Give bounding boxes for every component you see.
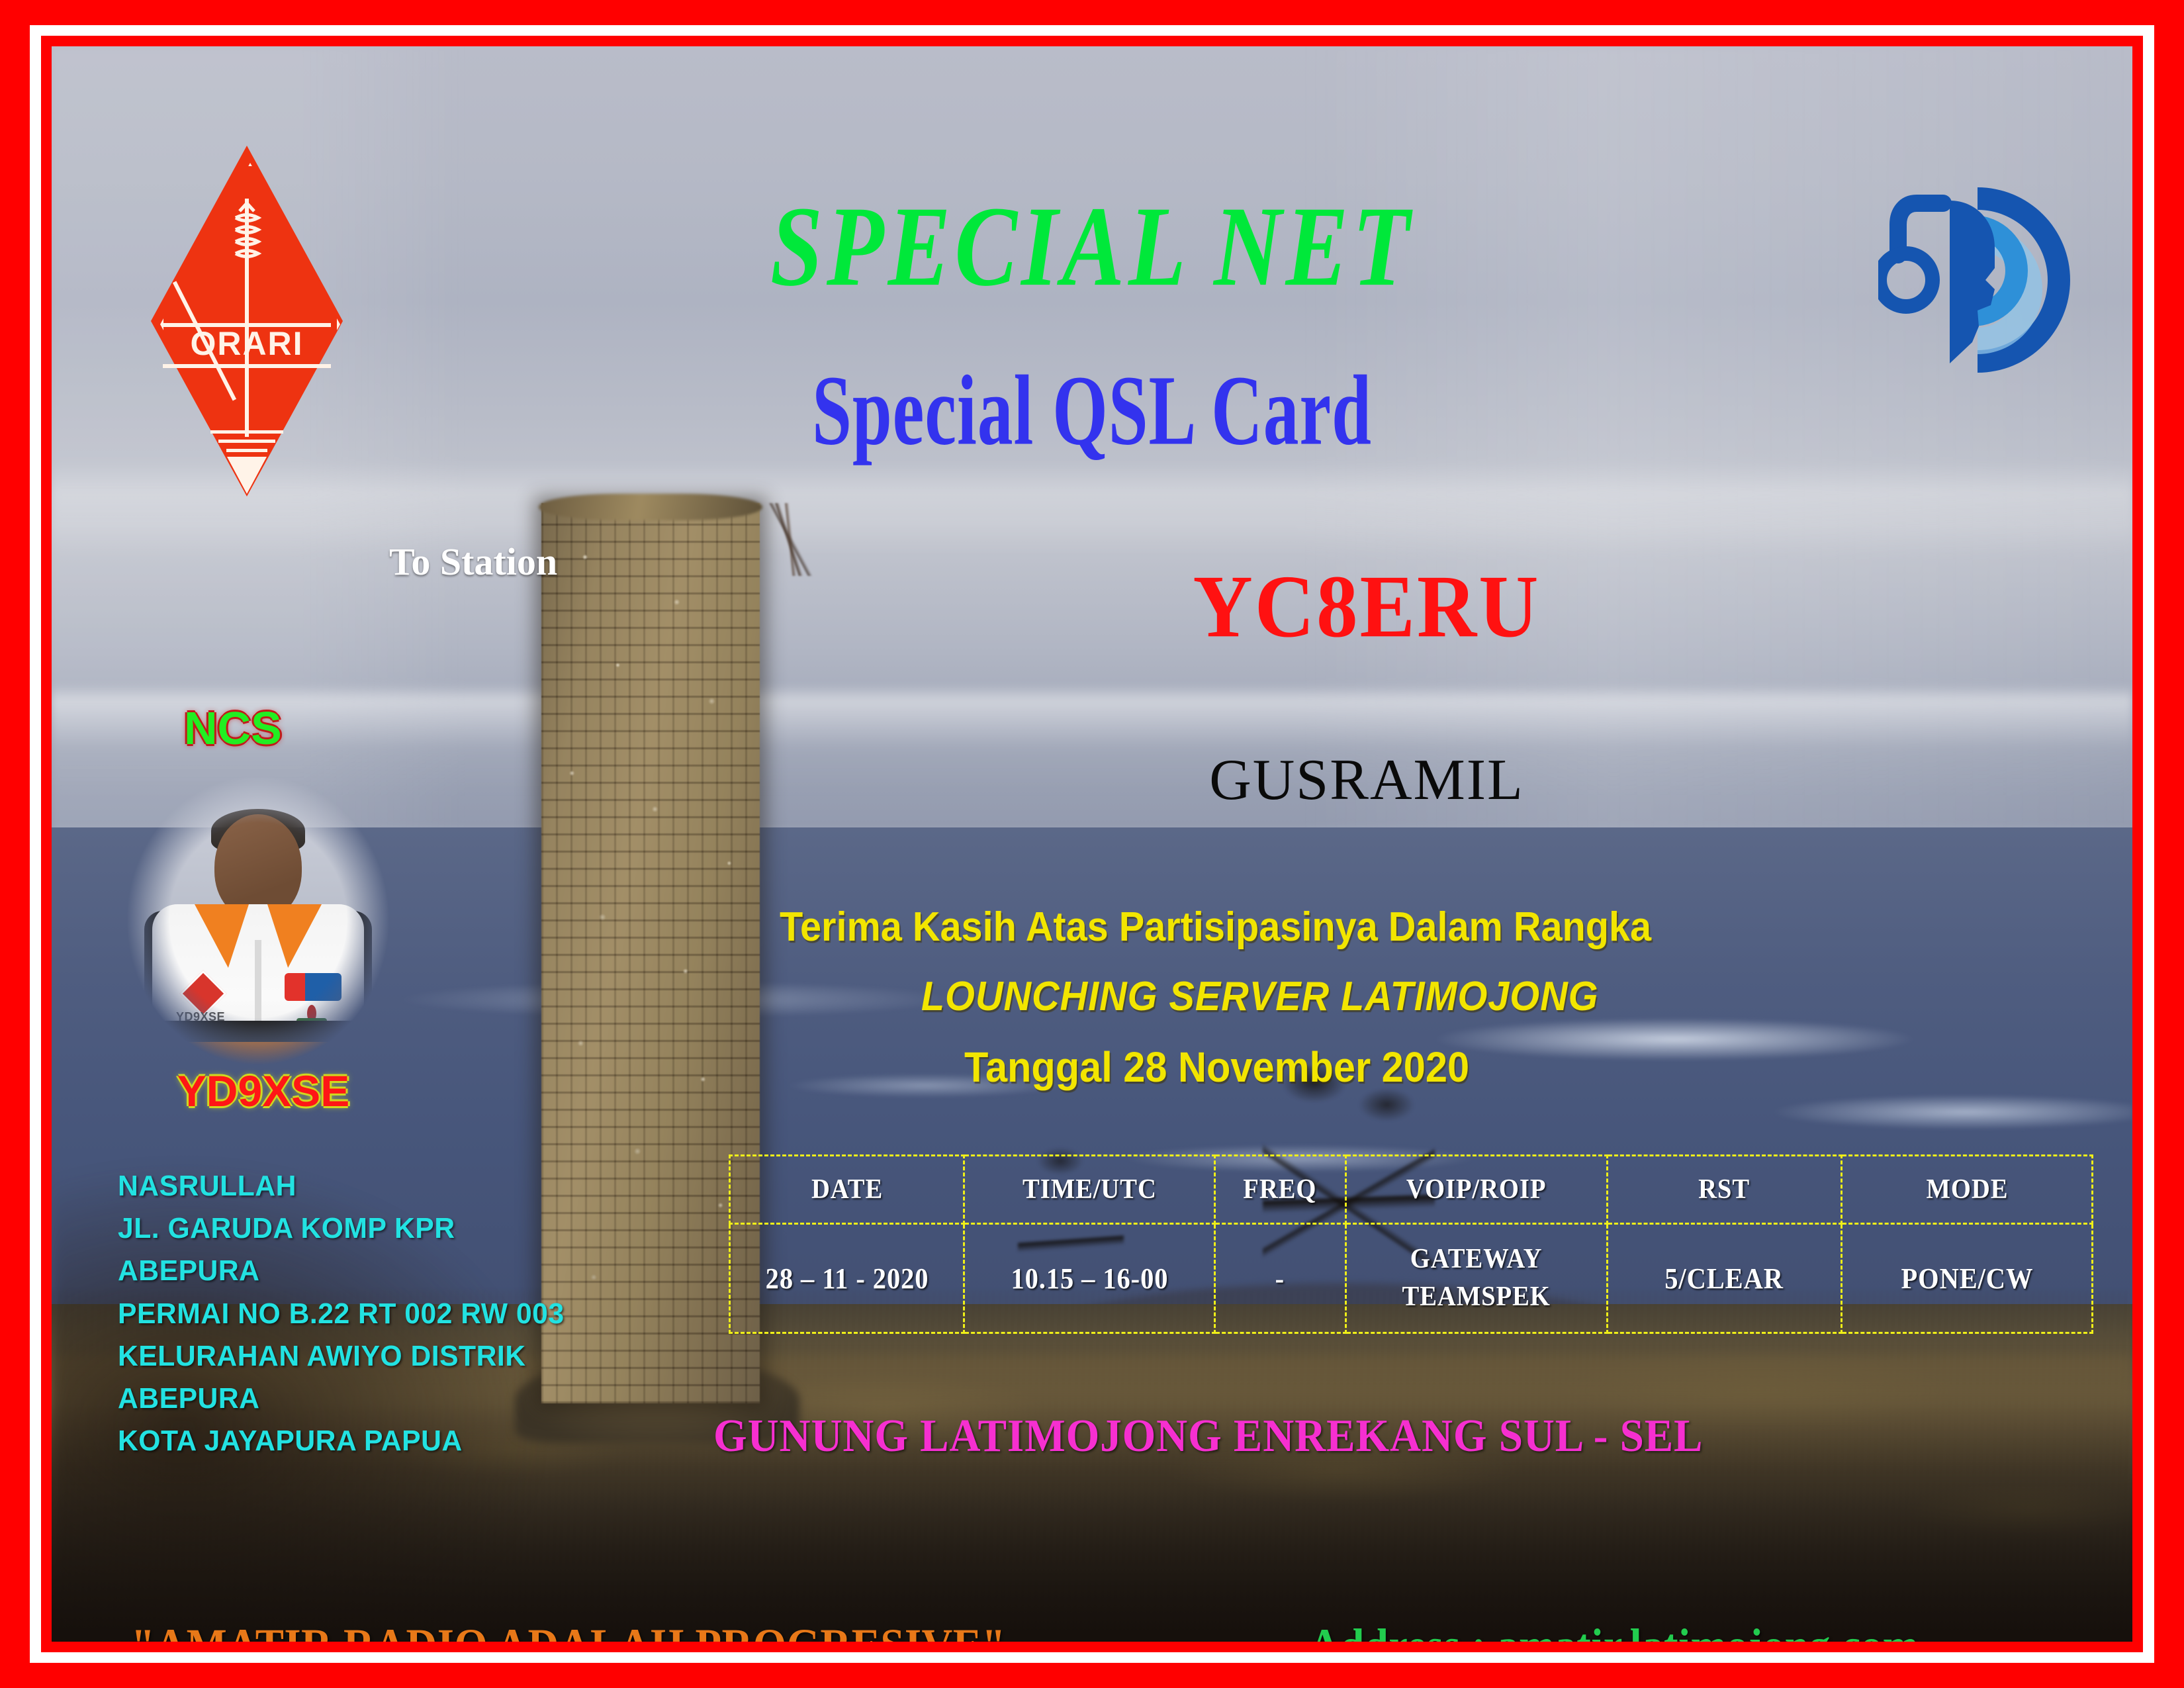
address-line: JL. GARUDA KOMP KPR: [118, 1207, 664, 1250]
address-line: ABEPURA: [118, 1250, 664, 1292]
table-header-row: DATE TIME/UTC FREQ VOIP/ROIP RST MODE: [730, 1156, 2093, 1224]
ncs-callsign: YD9XSE: [131, 1066, 396, 1116]
cell-date: 28 – 11 - 2020: [739, 1224, 955, 1333]
to-station-label: To Station: [389, 539, 557, 584]
cell-time-utc: 10.15 – 16-00: [974, 1224, 1205, 1333]
col-header-date: DATE: [739, 1156, 955, 1224]
ncs-operator-photo: YD9XSE: [126, 774, 390, 1066]
address-line: ABEPURA: [118, 1378, 664, 1420]
cell-freq: -: [1220, 1224, 1340, 1333]
photo-org-shirt-patch: [285, 973, 341, 1001]
address-line: KELURAHAN AWIYO DISTRIK: [118, 1335, 664, 1378]
address-line: KOTA JAYAPURA PAPUA: [118, 1420, 664, 1462]
card-photo-stage: ORARI SPECIAL NET Special QSL Card To St…: [52, 46, 2132, 1642]
col-header-voip-roip: VOIP/ROIP: [1356, 1156, 1597, 1224]
cell-voip-roip: GATEWAY TEAMSPEK: [1356, 1224, 1597, 1333]
cell-mode: PONE/CW: [1852, 1224, 2083, 1333]
cell-voip-line-2: TEAMSPEK: [1357, 1278, 1595, 1316]
event-date-line: Tanggal 28 November 2020: [780, 1043, 1964, 1092]
table-row: 28 – 11 - 2020 10.15 – 16-00 - GATEWAY T…: [730, 1224, 2093, 1333]
qsl-address-block: NASRULLAH JL. GARUDA KOMP KPR ABEPURA PE…: [118, 1165, 664, 1463]
page-title: SPECIAL NET: [52, 189, 2132, 303]
cell-voip-line-1: GATEWAY: [1357, 1241, 1595, 1278]
qso-table: DATE TIME/UTC FREQ VOIP/ROIP RST MODE 28…: [729, 1154, 2093, 1334]
station-callsign: YC8ERU: [905, 563, 1828, 652]
event-thanks-line: Terima Kasih Atas Partisipasinya Dalam R…: [780, 904, 1964, 951]
photo-waist-sash: [152, 1021, 364, 1043]
col-header-time-utc: TIME/UTC: [974, 1156, 1205, 1224]
footer-slogan: "AMATIR RADIO ADALAH PROGRESIVE": [131, 1618, 1006, 1642]
col-header-mode: MODE: [1852, 1156, 2083, 1224]
address-line: PERMAI NO B.22 RT 002 RW 003: [118, 1293, 664, 1335]
cell-rst: 5/CLEAR: [1617, 1224, 1833, 1333]
qsl-card: ORARI SPECIAL NET Special QSL Card To St…: [0, 0, 2184, 1688]
location-line: GUNUNG LATIMOJONG ENREKANG SUL - SEL: [713, 1410, 1703, 1463]
footer-address-url: Address : amatir.latimojong.com: [1309, 1618, 1919, 1642]
orari-wordmark: ORARI: [151, 323, 343, 364]
ncs-label: NCS: [184, 702, 282, 755]
qso-log-table: DATE TIME/UTC FREQ VOIP/ROIP RST MODE 28…: [729, 1154, 2093, 1325]
pillar-wire-wisps: [713, 503, 866, 576]
event-name-line: LOUNCHING SERVER LATIMOJONG: [780, 973, 1964, 1020]
photo-orange-hem: [159, 1042, 357, 1066]
page-subtitle: Special QSL Card: [93, 361, 2091, 461]
operator-name: GUSRAMIL: [905, 751, 1828, 810]
col-header-rst: RST: [1617, 1156, 1833, 1224]
address-line: NASRULLAH: [118, 1165, 664, 1207]
orari-ground-triangle: [227, 457, 267, 494]
col-header-freq: FREQ: [1220, 1156, 1340, 1224]
